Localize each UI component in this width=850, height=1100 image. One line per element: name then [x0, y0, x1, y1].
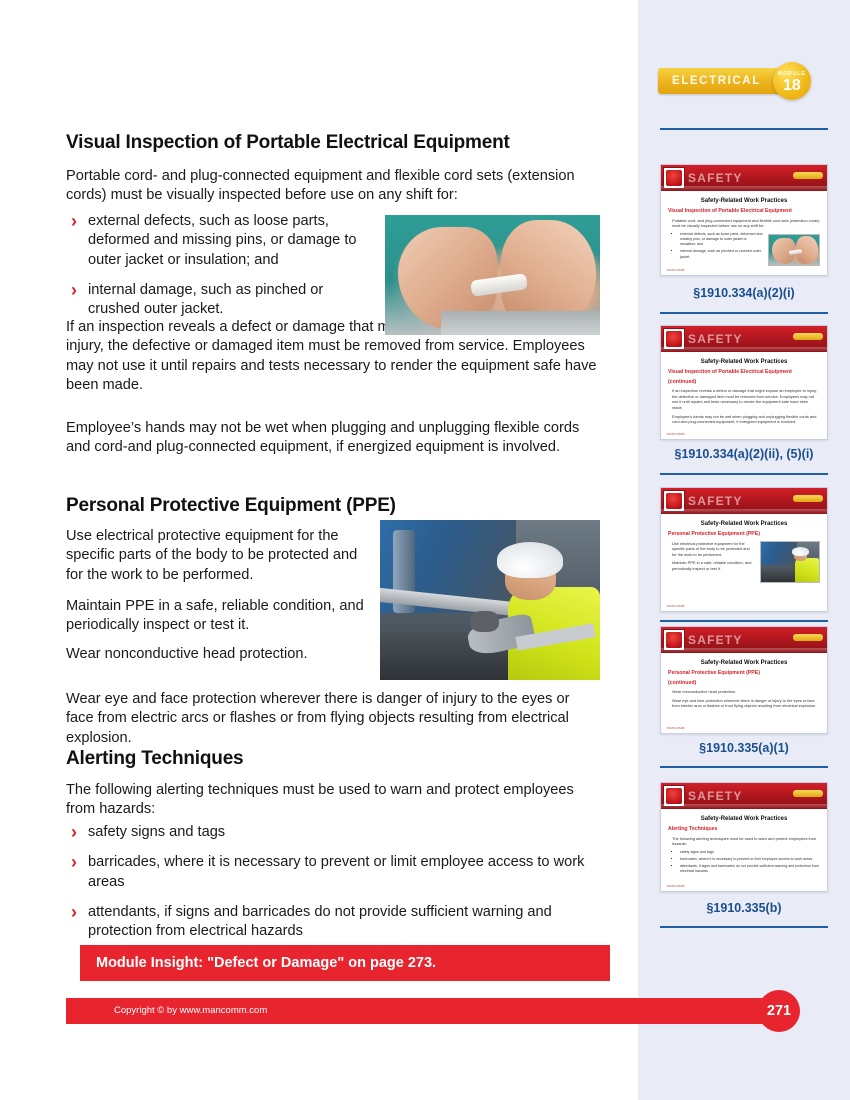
- slide-thumbnail[interactable]: SAFETY Safety-Related Work Practices Per…: [660, 626, 828, 734]
- list-item: barricades, where it is necessary to pre…: [66, 853, 600, 892]
- slide-header: SAFETY: [661, 783, 827, 809]
- slide-subtitle: Safety-Related Work Practices: [668, 816, 820, 822]
- list-item: internal damage, such as pinched or crus…: [66, 281, 376, 320]
- safety-logo-icon: [663, 167, 685, 189]
- list-item: external defects, such as loose parts, d…: [66, 212, 376, 270]
- slide-brand: SAFETY: [688, 333, 743, 345]
- bullet-list-inspection: external defects, such as loose parts, d…: [66, 212, 376, 330]
- rail-divider: [660, 926, 828, 928]
- slide-text: Use electrical protective equipment for …: [672, 541, 755, 558]
- slide-subtitle: Safety-Related Work Practices: [668, 660, 820, 666]
- page-number-badge: 271: [758, 990, 800, 1032]
- module-number: 18: [783, 78, 801, 94]
- slide-footer: MANCOMM: [667, 726, 685, 730]
- paragraph-ppe-use: Use electrical protective equipment for …: [66, 527, 371, 585]
- slide-subtitle: Safety-Related Work Practices: [668, 198, 820, 204]
- slide-bullet-list: safety signs and tags barricades, where …: [680, 850, 820, 875]
- slide-footer: MANCOMM: [667, 432, 685, 436]
- page-title: Visual Inspection of Portable Electrical…: [66, 132, 600, 154]
- slide-title: Personal Protective Equipment (PPE): [668, 670, 820, 677]
- slide-bullet: safety signs and tags: [680, 850, 820, 855]
- slide-title: Visual Inspection of Portable Electrical…: [668, 369, 820, 376]
- paragraph-alerting-intro: The following alerting techniques must b…: [66, 781, 600, 820]
- slide-footer: MANCOMM: [667, 884, 685, 888]
- module-badge-plate: ELECTRICAL: [658, 68, 791, 94]
- slide-subtitle: Safety-Related Work Practices: [668, 521, 820, 527]
- slide-header: SAFETY: [661, 488, 827, 514]
- slide-title-continued: (continued): [668, 379, 820, 386]
- slide-bullet: attendants, if signs and barricades do n…: [680, 864, 820, 874]
- photo-cord-inspection: [385, 215, 600, 335]
- slide-footer: MANCOMM: [667, 268, 685, 272]
- sidebar-rail: ELECTRICAL MODULE 18 SAFETY Saf: [638, 0, 850, 1100]
- slide-header-pill-icon: [793, 495, 823, 502]
- slide-photo-cord-inspection: [768, 234, 820, 266]
- module-number-circle: MODULE 18: [773, 62, 811, 100]
- slide-header: SAFETY: [661, 165, 827, 191]
- slide-text: Wear nonconductive head protection.: [672, 689, 820, 695]
- slide-text-secondary: Employee’s hands may not be wet when plu…: [672, 414, 820, 425]
- slide-brand: SAFETY: [688, 172, 743, 184]
- slide-text: The following alerting techniques must b…: [672, 836, 820, 847]
- slide-text: If an inspection reveals a defect or dam…: [672, 388, 820, 411]
- rail-divider: [660, 473, 828, 475]
- citation-reference: §1910.335(a)(1): [660, 741, 828, 755]
- slide-text-secondary: Maintain PPE in a safe, reliable conditi…: [672, 560, 755, 571]
- slide-header: SAFETY: [661, 627, 827, 653]
- module-badge-label: ELECTRICAL: [672, 75, 761, 87]
- paragraph-ppe-maintain: Maintain PPE in a safe, reliable conditi…: [66, 597, 371, 636]
- slide-title-continued: (continued): [668, 680, 820, 687]
- page-number: 271: [767, 1003, 791, 1019]
- slide-thumbnail[interactable]: SAFETY Safety-Related Work Practices Vis…: [660, 325, 828, 440]
- slide-brand: SAFETY: [688, 634, 743, 646]
- slide-title: Alerting Techniques: [668, 826, 820, 833]
- slide-subtitle: Safety-Related Work Practices: [668, 359, 820, 365]
- slide-bullet-list: external defects, such as loose parts, d…: [680, 232, 763, 263]
- slide-title: Visual Inspection of Portable Electrical…: [668, 208, 820, 215]
- paragraph-wet-hands: Employee’s hands may not be wet when plu…: [66, 419, 600, 458]
- slide-brand: SAFETY: [688, 790, 743, 802]
- slide-footer: MANCOMM: [667, 604, 685, 608]
- section-heading-alerting: Alerting Techniques: [66, 748, 600, 770]
- list-item: safety signs and tags: [66, 823, 600, 842]
- slide-brand: SAFETY: [688, 495, 743, 507]
- slide-header: SAFETY: [661, 326, 827, 352]
- slide-bullet: barricades, where it is necessary to pre…: [680, 857, 820, 862]
- slide-header-pill-icon: [793, 172, 823, 179]
- citation-reference: §1910.334(a)(2)(ii), (5)(i): [660, 447, 828, 461]
- bullet-list-alerting: safety signs and tags barricades, where …: [66, 823, 600, 952]
- citation-reference: §1910.335(b): [660, 901, 828, 915]
- document-page: ELECTRICAL MODULE 18 SAFETY Saf: [0, 0, 850, 1100]
- slide-header-pill-icon: [793, 333, 823, 340]
- slide-header-pill-icon: [793, 790, 823, 797]
- paragraph-eye-face: Wear eye and face protection wherever th…: [66, 690, 600, 748]
- slide-thumbnail[interactable]: SAFETY Safety-Related Work Practices Vis…: [660, 164, 828, 276]
- slide-thumbnail[interactable]: SAFETY Safety-Related Work Practices Per…: [660, 487, 828, 612]
- slide-bullet: internal damage, such as pinched or crus…: [680, 249, 763, 259]
- slide-header-pill-icon: [793, 634, 823, 641]
- module-insight-text: Module Insight: "Defect or Damage" on pa…: [96, 955, 436, 971]
- rail-divider: [660, 766, 828, 768]
- copyright-text: Copyright © by www.mancomm.com: [114, 1005, 267, 1016]
- intro-paragraph: Portable cord- and plug-connected equipm…: [66, 167, 600, 206]
- safety-logo-icon: [663, 785, 685, 807]
- slide-photo-ppe-worker: [760, 541, 820, 583]
- paragraph-head-protection: Wear nonconductive head protection.: [66, 645, 371, 664]
- citation-reference: §1910.334(a)(2)(i): [660, 286, 828, 300]
- section-heading-ppe: Personal Protective Equipment (PPE): [66, 495, 600, 517]
- rail-divider: [660, 128, 828, 130]
- slide-bullet: external defects, such as loose parts, d…: [680, 232, 763, 248]
- slide-title: Personal Protective Equipment (PPE): [668, 531, 820, 538]
- module-badge: ELECTRICAL MODULE 18: [658, 62, 811, 100]
- safety-logo-icon: [663, 629, 685, 651]
- slide-text-secondary: Wear eye and face protection wherever th…: [672, 698, 820, 709]
- slide-text: Portable cord- and plug-connected equipm…: [672, 218, 820, 229]
- module-insight-callout[interactable]: Module Insight: "Defect or Damage" on pa…: [80, 945, 610, 981]
- list-item: attendants, if signs and barricades do n…: [66, 903, 600, 942]
- rail-divider: [660, 312, 828, 314]
- slide-thumbnail[interactable]: SAFETY Safety-Related Work Practices Ale…: [660, 782, 828, 892]
- safety-logo-icon: [663, 490, 685, 512]
- photo-ppe-worker: [380, 520, 600, 680]
- rail-divider: [660, 620, 828, 622]
- safety-logo-icon: [663, 328, 685, 350]
